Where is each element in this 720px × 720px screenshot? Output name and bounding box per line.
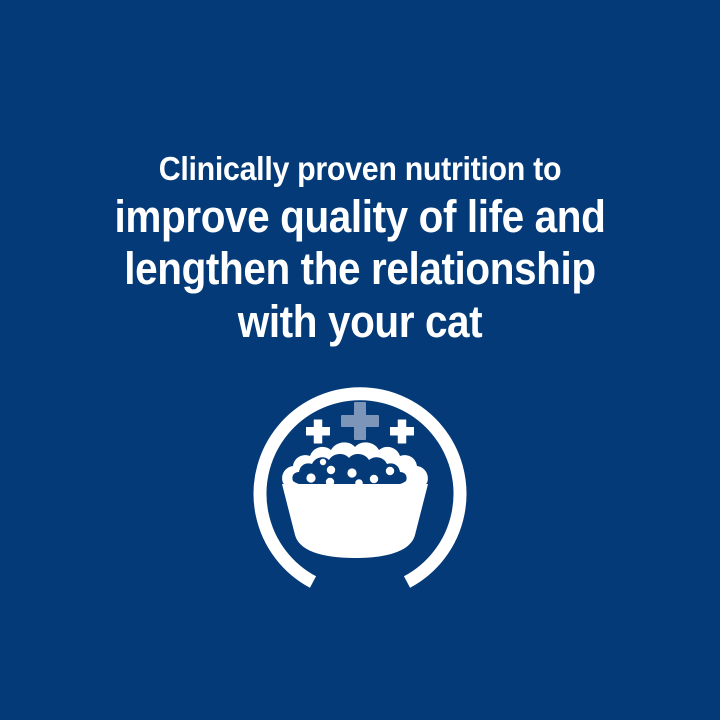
headline-block: Clinically proven nutrition to improve q… xyxy=(0,150,720,348)
plus-left-icon xyxy=(306,420,330,444)
pet-food-bowl-with-sparkles-icon xyxy=(235,383,485,593)
plus-right-icon xyxy=(390,420,414,444)
headline-line-2: lengthen the relationship xyxy=(36,243,684,295)
plus-center-icon xyxy=(341,402,379,440)
headline-line-1: improve quality of life and xyxy=(36,191,684,243)
headline-line-3: with your cat xyxy=(36,296,684,348)
food-bowl-icon xyxy=(282,484,428,558)
poster-canvas: Clinically proven nutrition to improve q… xyxy=(0,0,720,720)
headline-lead-line: Clinically proven nutrition to xyxy=(29,150,691,188)
